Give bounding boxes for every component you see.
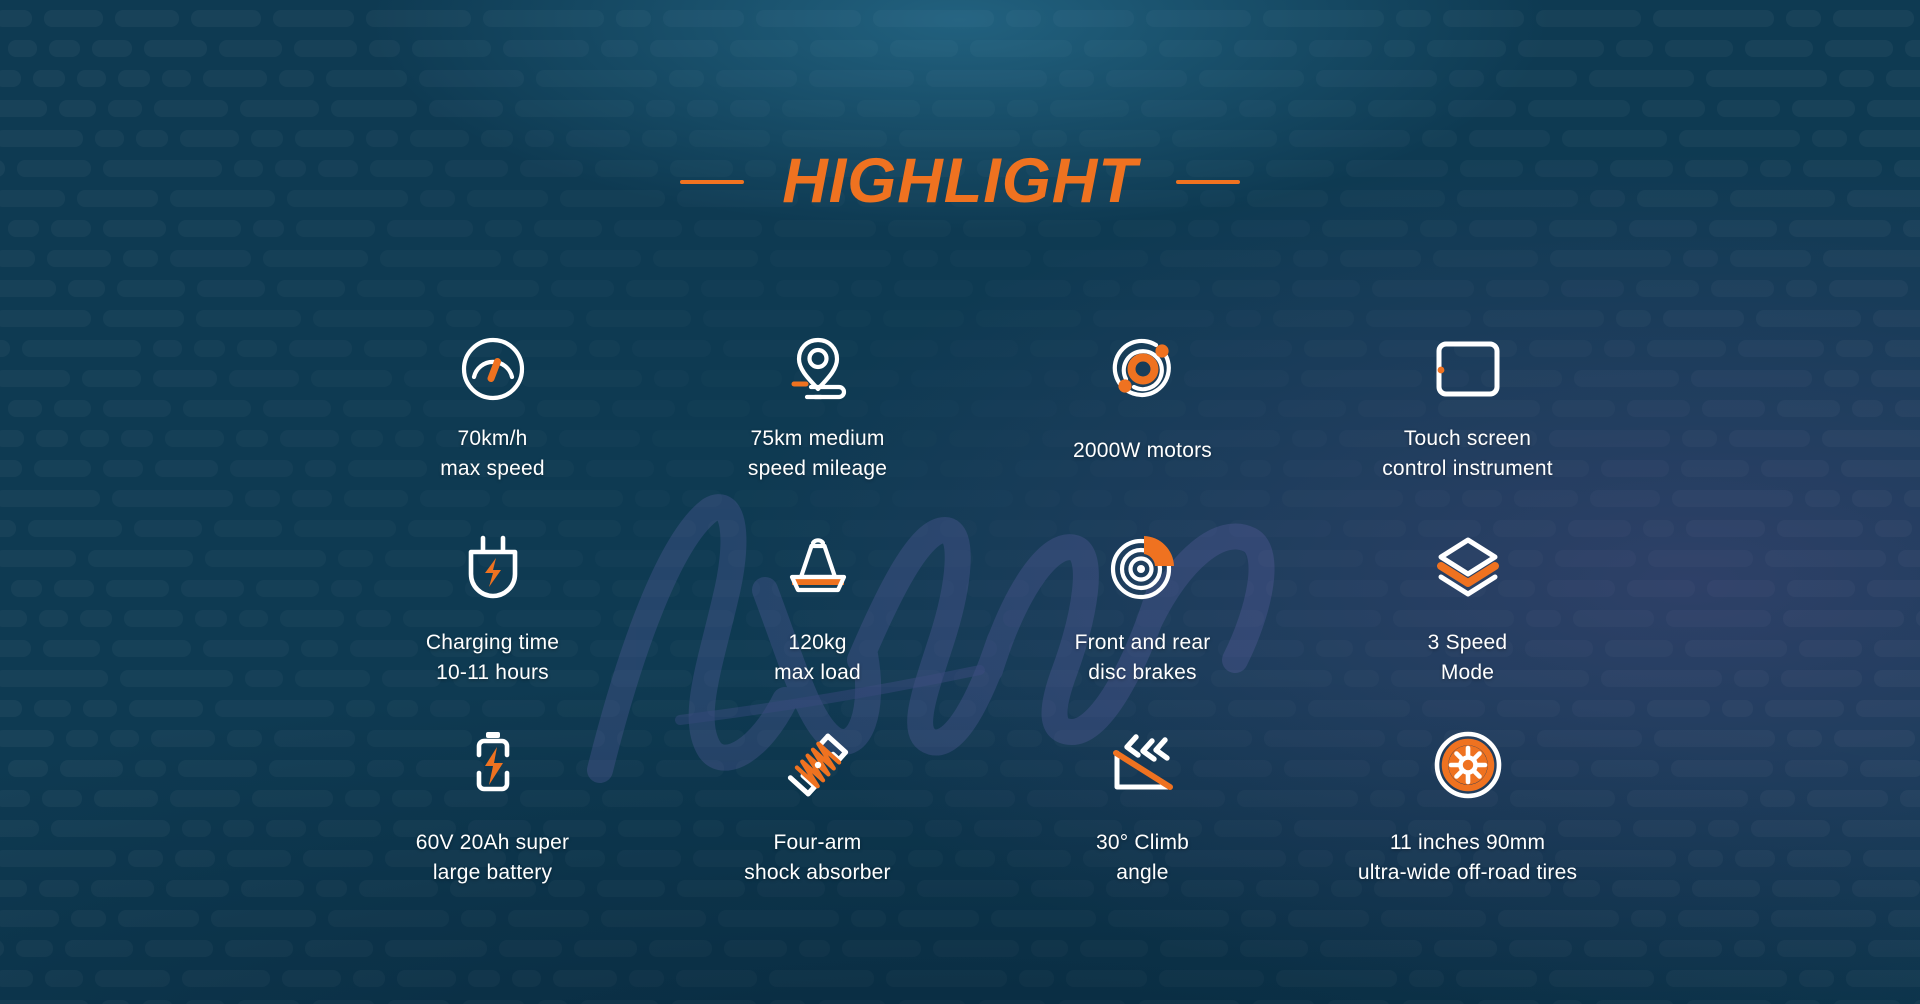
- layers-stack-icon: [1429, 528, 1507, 606]
- title-rule-right: [1176, 180, 1240, 184]
- location-pin-road-icon: [779, 330, 857, 408]
- feature-label: Front and rear disc brakes: [1075, 628, 1211, 689]
- title-rule-left: [680, 180, 744, 184]
- feature-label: 2000W motors: [1073, 436, 1212, 466]
- feature-item-disc-brakes: Front and rear disc brakes: [980, 528, 1305, 726]
- feature-item-speed-mode: 3 Speed Mode: [1305, 528, 1630, 726]
- feature-item-climb-angle: 30° Climb angle: [980, 726, 1305, 924]
- feature-label: 60V 20Ah super large battery: [416, 828, 569, 889]
- battery-bolt-icon: [454, 726, 532, 804]
- feature-label: 3 Speed Mode: [1428, 628, 1508, 689]
- incline-ramp-icon: [1104, 726, 1182, 804]
- feature-item-charging-time: Charging time 10-11 hours: [330, 528, 655, 726]
- header: HIGHLIGHT: [0, 150, 1920, 213]
- wheel-tire-icon: [1429, 726, 1507, 804]
- feature-label: 75km medium speed mileage: [748, 424, 887, 485]
- shock-absorber-icon: [779, 726, 857, 804]
- feature-item-tires: 11 inches 90mm ultra-wide off-road tires: [1305, 726, 1630, 924]
- feature-label: 120kg max load: [774, 628, 861, 689]
- highlight-poster: HIGHLIGHT 70km/h max speed: [0, 0, 1920, 1004]
- speedometer-icon: [454, 330, 532, 408]
- feature-label: Charging time 10-11 hours: [426, 628, 559, 689]
- weight-scale-icon: [779, 528, 857, 606]
- feature-label: 11 inches 90mm ultra-wide off-road tires: [1358, 828, 1577, 889]
- feature-label: Touch screen control instrument: [1382, 424, 1553, 485]
- tablet-screen-icon: [1429, 330, 1507, 408]
- feature-label: Four-arm shock absorber: [744, 828, 890, 889]
- feature-item-max-load: 120kg max load: [655, 528, 980, 726]
- page-title: HIGHLIGHT: [782, 150, 1137, 213]
- motor-orbit-icon: [1104, 330, 1182, 408]
- power-plug-bolt-icon: [454, 528, 532, 606]
- feature-item-mileage: 75km medium speed mileage: [655, 330, 980, 528]
- feature-grid: 70km/h max speed 75km medium speed milea…: [330, 330, 1630, 924]
- feature-item-max-speed: 70km/h max speed: [330, 330, 655, 528]
- feature-label: 30° Climb angle: [1096, 828, 1189, 889]
- brake-disc-icon: [1104, 528, 1182, 606]
- feature-item-shock-absorber: Four-arm shock absorber: [655, 726, 980, 924]
- feature-item-motor-power: 2000W motors: [980, 330, 1305, 528]
- feature-label: 70km/h max speed: [440, 424, 545, 485]
- feature-item-battery: 60V 20Ah super large battery: [330, 726, 655, 924]
- feature-item-touch-screen: Touch screen control instrument: [1305, 330, 1630, 528]
